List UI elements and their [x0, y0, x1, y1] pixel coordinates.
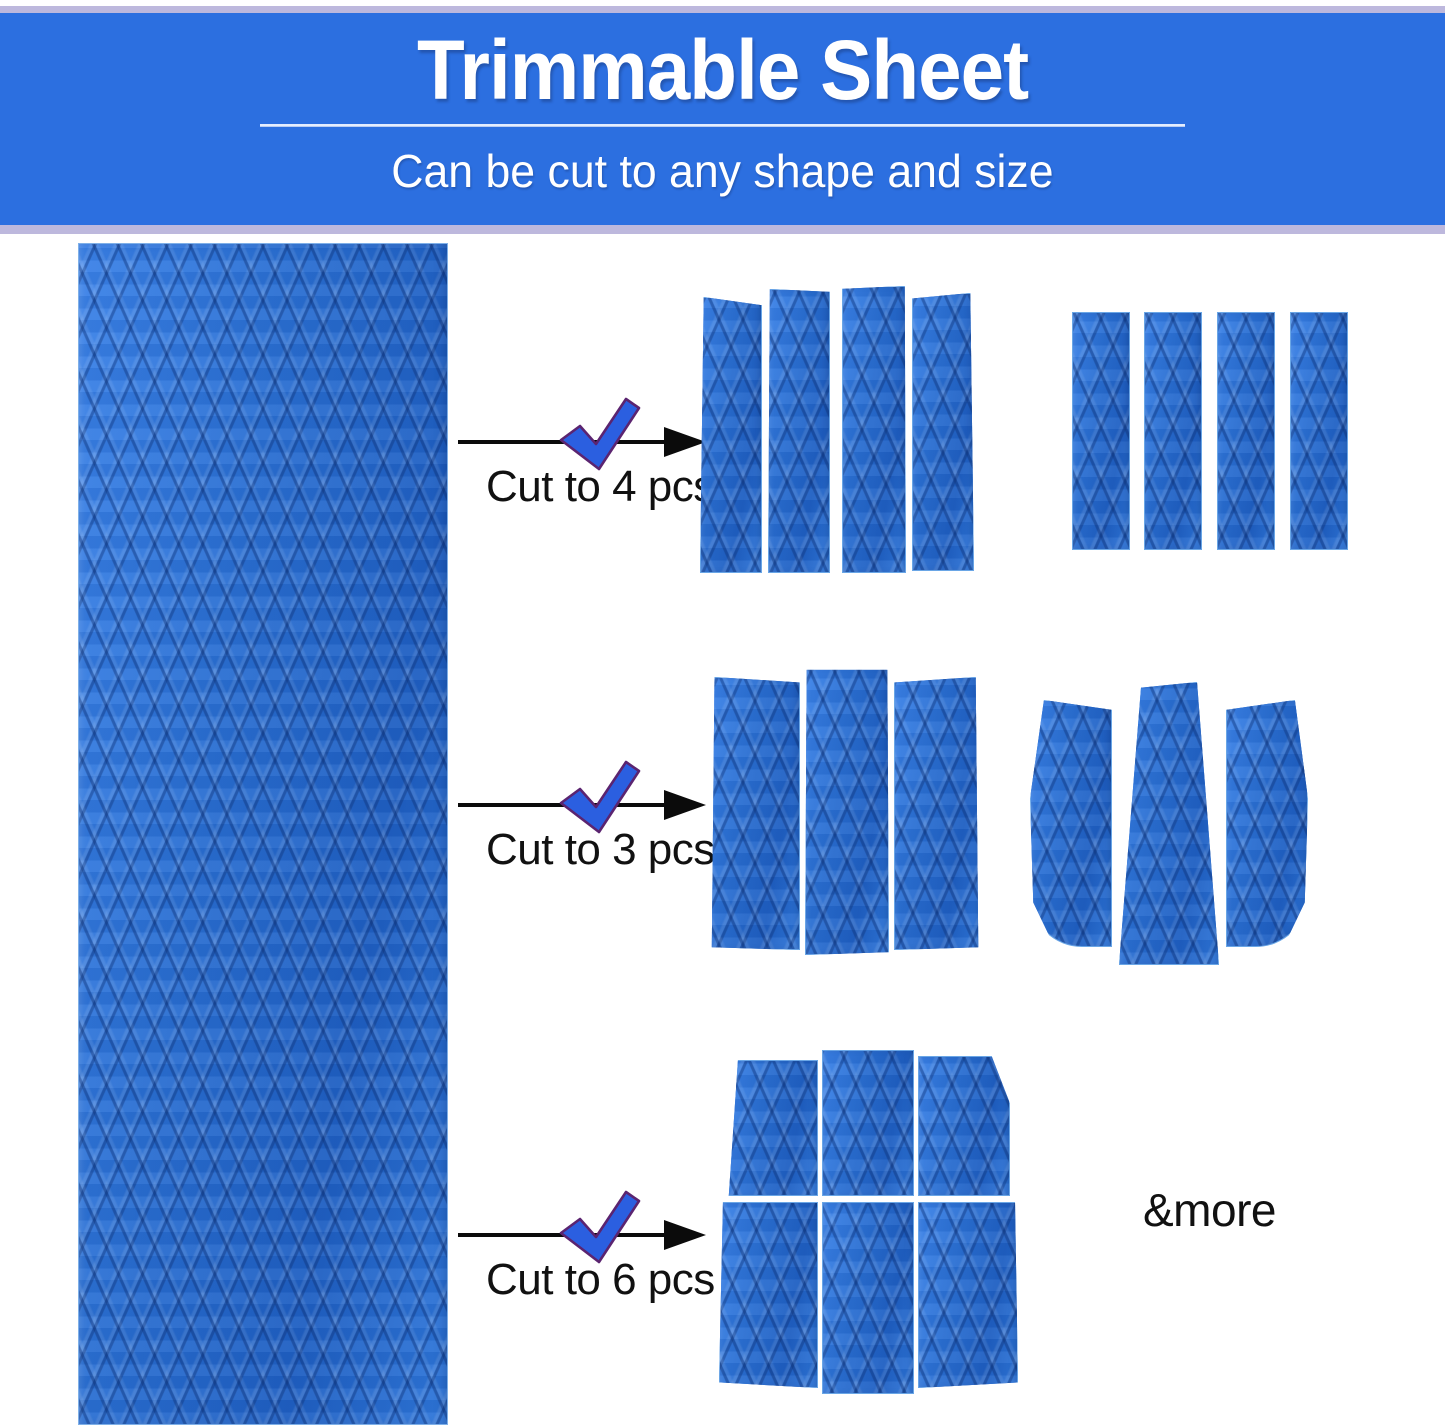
pad-piece — [822, 1202, 914, 1394]
pad-piece — [1217, 312, 1275, 550]
uncut-trimmable-sheet — [78, 243, 448, 1425]
pad-piece — [710, 677, 800, 950]
pad-piece — [842, 286, 906, 573]
more-label: &more — [1143, 1183, 1276, 1237]
arrow-row-4pcs: Cut to 4 pcs — [458, 440, 706, 444]
cut-label-3pcs: Cut to 3 pcs — [486, 825, 715, 875]
pad-piece — [894, 677, 980, 950]
infographic-page: Trimmable Sheet Can be cut to any shape … — [0, 0, 1445, 1425]
pad-piece — [726, 1060, 818, 1196]
blue-check-icon — [558, 396, 642, 472]
banner-content: Trimmable Sheet Can be cut to any shape … — [0, 13, 1445, 225]
pad-piece — [1290, 312, 1348, 550]
blue-check-icon — [558, 1189, 642, 1265]
pad-piece — [1144, 312, 1202, 550]
pad-piece — [700, 297, 762, 573]
pad-piece — [1030, 700, 1112, 947]
right-arrow-icon — [664, 790, 706, 820]
pad-piece — [1226, 700, 1308, 947]
three-piece-front-pad — [710, 665, 975, 950]
pad-piece — [768, 289, 830, 573]
cut-label-4pcs: Cut to 4 pcs — [486, 462, 715, 512]
pad-piece — [1119, 682, 1219, 965]
three-piece-tail-pad — [1030, 682, 1306, 947]
pad-piece — [719, 1202, 818, 1388]
four-piece-fanned-set — [700, 283, 975, 573]
title-divider — [260, 124, 1185, 127]
blue-check-icon — [558, 759, 642, 835]
four-piece-straight-set — [1072, 312, 1357, 550]
pad-piece — [918, 1202, 1018, 1388]
pad-piece — [918, 1056, 1010, 1196]
arrow-row-3pcs: Cut to 3 pcs — [458, 803, 706, 807]
arrow-row-6pcs: Cut to 6 pcs — [458, 1233, 706, 1237]
cut-label-6pcs: Cut to 6 pcs — [486, 1255, 715, 1305]
header-banner: Trimmable Sheet Can be cut to any shape … — [0, 6, 1445, 234]
pad-piece — [805, 667, 889, 955]
pad-piece — [912, 293, 974, 571]
six-piece-deck-pad — [712, 1050, 1012, 1395]
page-title: Trimmable Sheet — [417, 27, 1028, 114]
pad-piece — [1072, 312, 1130, 550]
pad-piece — [822, 1050, 914, 1196]
right-arrow-icon — [664, 1220, 706, 1250]
page-subtitle: Can be cut to any shape and size — [391, 144, 1053, 198]
